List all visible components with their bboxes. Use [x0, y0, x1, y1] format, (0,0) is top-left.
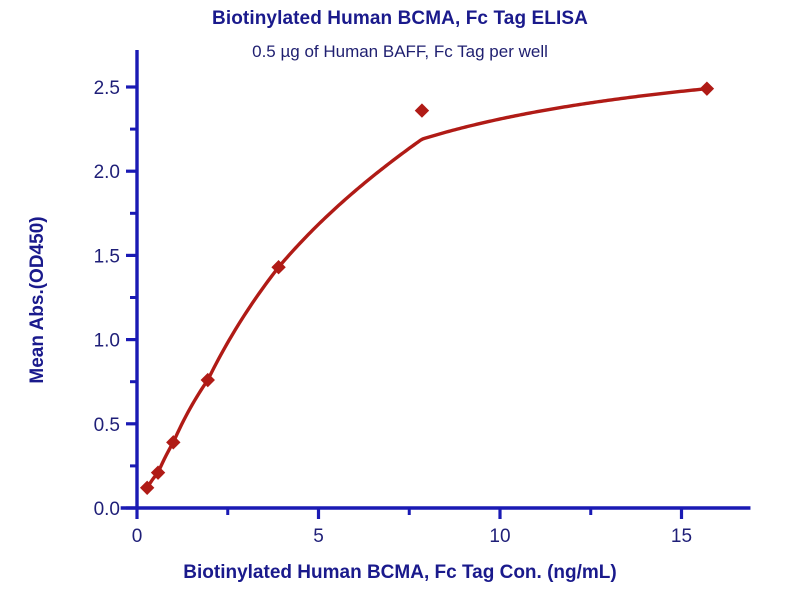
x-tick-label: 0 [132, 526, 143, 547]
x-tick-label: 5 [313, 526, 324, 547]
y-tick-labels: 0.00.51.01.52.02.5 [94, 78, 120, 520]
axes-group [121, 50, 751, 508]
plot-area: 0.00.51.01.52.02.5 051015 [0, 0, 800, 600]
elisa-binding-chart: Biotinylated Human BCMA, Fc Tag ELISA 0.… [0, 0, 800, 600]
y-tick-label: 1.0 [94, 331, 120, 352]
y-tick-label: 2.0 [94, 162, 120, 183]
y-tick-label: 0.5 [94, 415, 120, 436]
y-tick-label: 1.5 [94, 246, 120, 267]
data-point-marker [415, 103, 429, 117]
fit-curve [147, 89, 707, 488]
data-markers [140, 81, 714, 495]
y-tick-label: 2.5 [94, 78, 120, 99]
y-tick-label: 0.0 [94, 499, 120, 520]
x-tick-label: 15 [671, 526, 692, 547]
x-tick-labels: 051015 [132, 526, 692, 547]
data-point-marker [700, 81, 714, 95]
data-point-marker [166, 435, 180, 449]
x-tick-label: 10 [489, 526, 510, 547]
